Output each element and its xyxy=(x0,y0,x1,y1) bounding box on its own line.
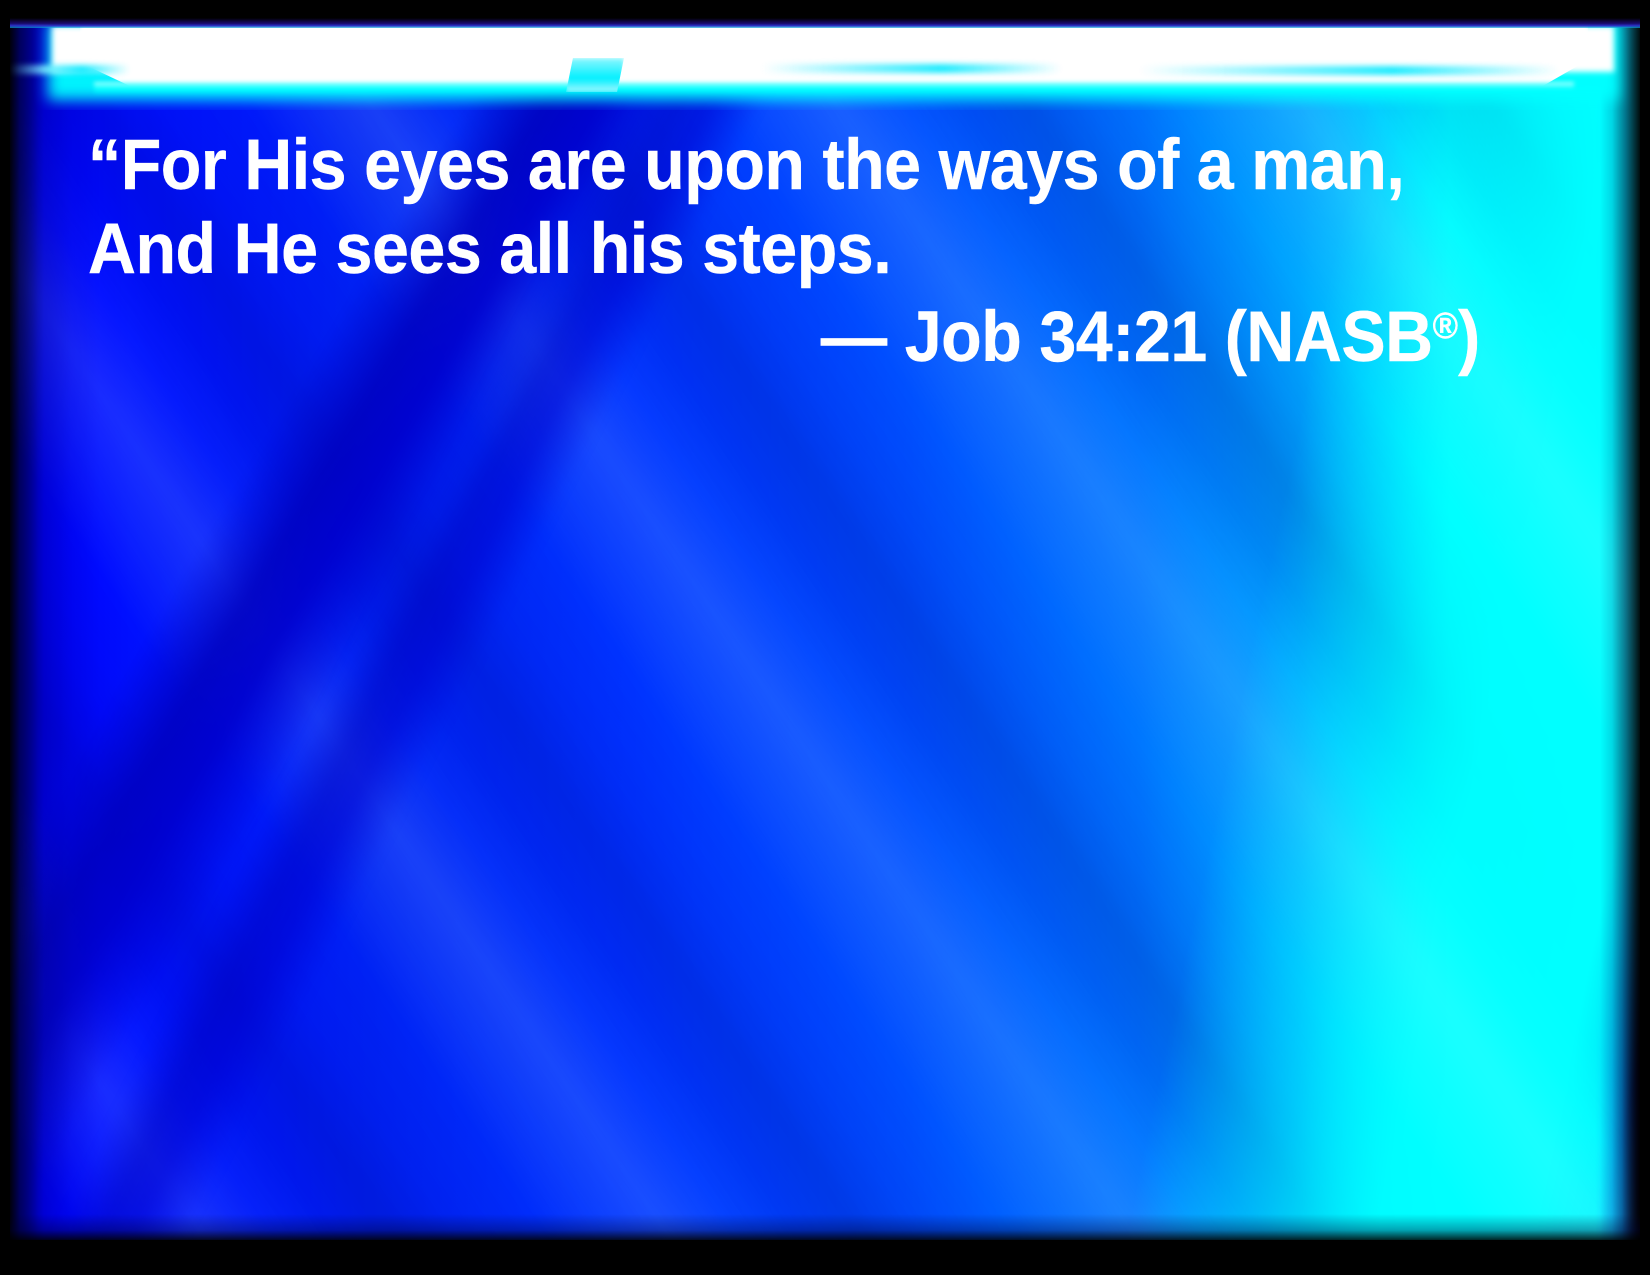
background-left-vignette xyxy=(10,18,100,1240)
banner-streak-left xyxy=(10,65,130,74)
attribution-reference: 34:21 xyxy=(1040,298,1207,377)
slide-canvas: “For His eyes are upon the ways of a man… xyxy=(10,18,1640,1240)
attribution-translation: NASB xyxy=(1247,298,1433,377)
background-right-vignette xyxy=(1600,18,1640,1240)
verse-attribution: — Job 34:21 (NASB®) xyxy=(821,302,1480,373)
banner-streak-right xyxy=(1140,66,1560,75)
attribution-dash: — xyxy=(821,298,887,377)
attribution-book: Job xyxy=(905,298,1022,377)
banner-center-bump xyxy=(566,58,624,92)
top-white-banner xyxy=(10,18,1640,110)
banner-cyan-underline xyxy=(94,82,1574,94)
banner-white-shape xyxy=(80,24,1588,86)
banner-streak-middle xyxy=(762,64,1062,73)
attribution-open-paren: ( xyxy=(1225,298,1247,377)
background-bottom-vignette xyxy=(10,1214,1640,1240)
verse-line-2: And He sees all his steps. xyxy=(88,214,891,285)
registered-trademark-icon: ® xyxy=(1433,305,1458,346)
verse-slide: “For His eyes are upon the ways of a man… xyxy=(0,0,1650,1275)
attribution-close-paren: ) xyxy=(1458,298,1480,377)
verse-line-1: “For His eyes are upon the ways of a man… xyxy=(88,130,1404,201)
banner-top-edge xyxy=(10,18,1640,28)
